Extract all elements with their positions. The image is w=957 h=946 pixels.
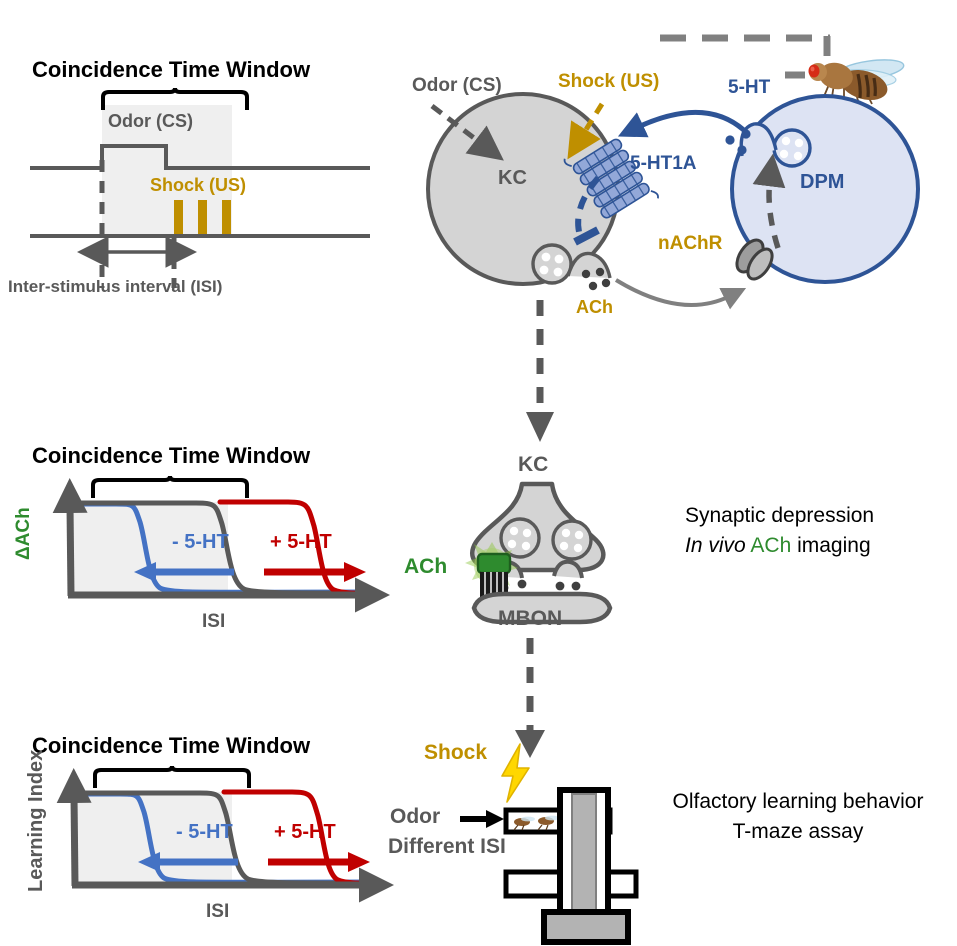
tmaze-central-column: [546, 788, 626, 930]
odor-cs-label-circuit: Odor (CS): [412, 76, 502, 96]
flow-arrow-circuit-to-synapse: [520, 300, 562, 445]
delta-ach-xlabel: ISI: [202, 612, 225, 632]
learning-index-xlabel: ISI: [206, 902, 229, 922]
ach-green-text: ACh: [750, 534, 791, 557]
panel-kc-dpm-circuit: KC DPM Odor (CS) Shock (US): [390, 20, 957, 330]
5ht-to-receptor-arrow: [608, 100, 758, 170]
panel-delta-ach-chart: Coincidence Time Window ΔACh - 5-HT + 5-…: [20, 440, 400, 640]
minus-5ht-annotation-2: - 5-HT: [176, 822, 233, 843]
plus-5ht-arrow: [260, 560, 370, 586]
tmaze-base-block: [540, 910, 632, 946]
panel1-heading: Coincidence Time Window: [32, 58, 310, 81]
odor-input-arrow: [428, 102, 508, 164]
nachr-label: nAChR: [658, 234, 722, 254]
panel5-heading: Coincidence Time Window: [32, 734, 310, 757]
lightning-bolt-icon: [496, 742, 536, 804]
isi-label: Inter-stimulus interval (ISI): [8, 278, 222, 296]
shock-us-label-circuit: Shock (US): [558, 72, 659, 92]
minus-5ht-arrow: [130, 560, 240, 586]
learning-index-ylabel: Learning Index: [26, 750, 47, 892]
caption-line-2: In vivo ACh imaging: [685, 535, 871, 557]
isi-dashed-markers: [30, 140, 370, 290]
plus-5ht-annotation-2: + 5-HT: [274, 822, 336, 843]
caption-line-1: Synaptic depression: [685, 505, 874, 527]
imaging-text: imaging: [797, 534, 871, 557]
synapse-mbon-label: MBON: [498, 608, 562, 630]
minus-5ht-arrow-2: [134, 850, 244, 876]
panel-tmaze-assay: Shock Odor Different ISI: [400, 740, 660, 930]
tmaze-isi-label: Different ISI: [388, 836, 506, 858]
caption-line-3: Olfactory learning behavior: [648, 790, 948, 814]
minus-5ht-annotation: - 5-HT: [172, 532, 229, 553]
tmaze-odor-label: Odor: [390, 806, 440, 828]
odor-input-arrow-tmaze: [460, 808, 506, 832]
isi-double-arrow: [95, 240, 205, 266]
delta-ach-ylabel: ΔACh: [14, 507, 34, 560]
panel-kc-mbon-synapse: KC ACh: [400, 440, 660, 640]
plus-5ht-annotation: + 5-HT: [270, 532, 332, 553]
synapse-ach-label: ACh: [404, 556, 447, 578]
odor-cs-label: Odor (CS): [108, 112, 193, 131]
synapse-kc-label: KC: [518, 454, 548, 476]
5ht-label: 5-HT: [728, 78, 770, 98]
tmaze-shock-label: Shock: [424, 742, 487, 764]
coincidence-brace: [100, 88, 250, 112]
caption-line-4: T-maze assay: [648, 820, 948, 844]
panel3-heading: Coincidence Time Window: [32, 444, 310, 467]
caption-olfactory-learning: Olfactory learning behavior T-maze assay: [648, 790, 948, 844]
ach-label-circuit: ACh: [576, 298, 613, 317]
plus-5ht-arrow-2: [264, 850, 374, 876]
in-vivo-text: In vivo: [685, 534, 746, 557]
kc-label: KC: [498, 168, 527, 189]
panel-coincidence-timing: Coincidence Time Window Odor (CS) Shock …: [0, 0, 400, 320]
panel-learning-index-chart: Coincidence Time Window Learning Index -…: [20, 720, 400, 940]
